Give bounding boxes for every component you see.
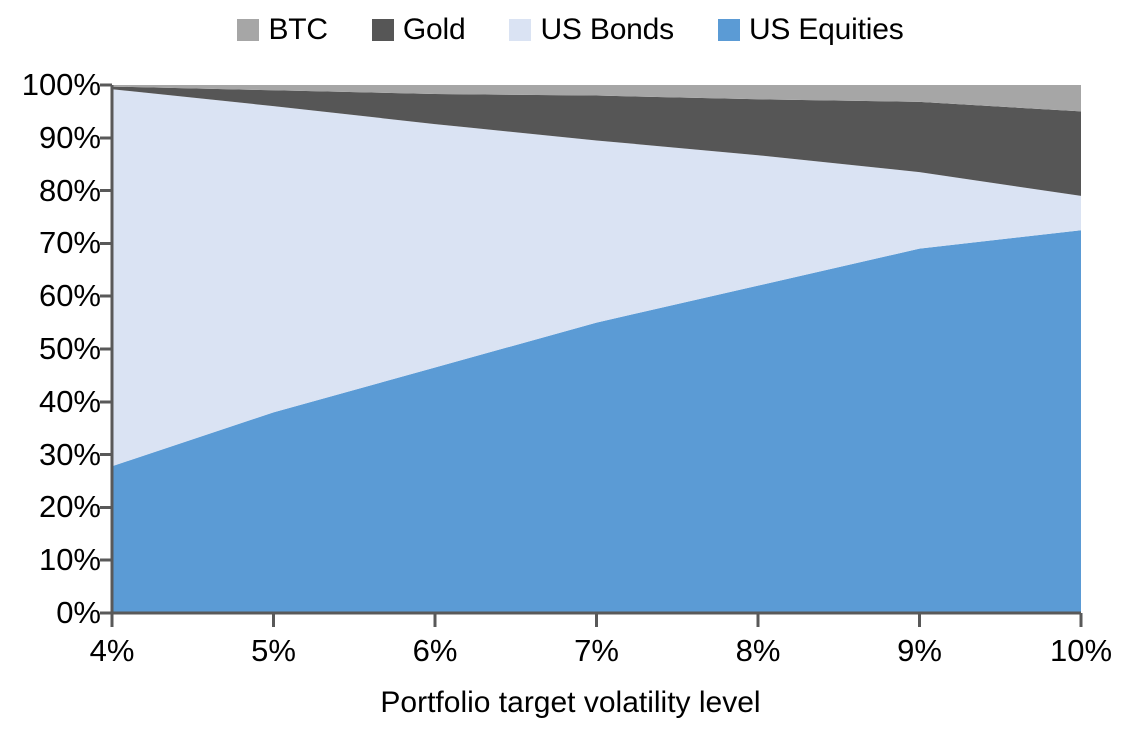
x-tick-label: 5% <box>214 635 334 666</box>
x-tick-label: 7% <box>537 635 657 666</box>
x-tick-label: 4% <box>52 635 172 666</box>
x-tick-label: 8% <box>698 635 818 666</box>
x-tick-label: 9% <box>860 635 980 666</box>
x-axis-tick-labels: 4%5%6%7%8%9%10% <box>0 0 1141 742</box>
x-tick-label: 10% <box>1021 635 1141 666</box>
stacked-area-chart: BTC Gold US Bonds US Equities 0%10%20%30… <box>0 0 1141 742</box>
x-axis-title: Portfolio target volatility level <box>0 688 1141 718</box>
x-tick-label: 6% <box>375 635 495 666</box>
